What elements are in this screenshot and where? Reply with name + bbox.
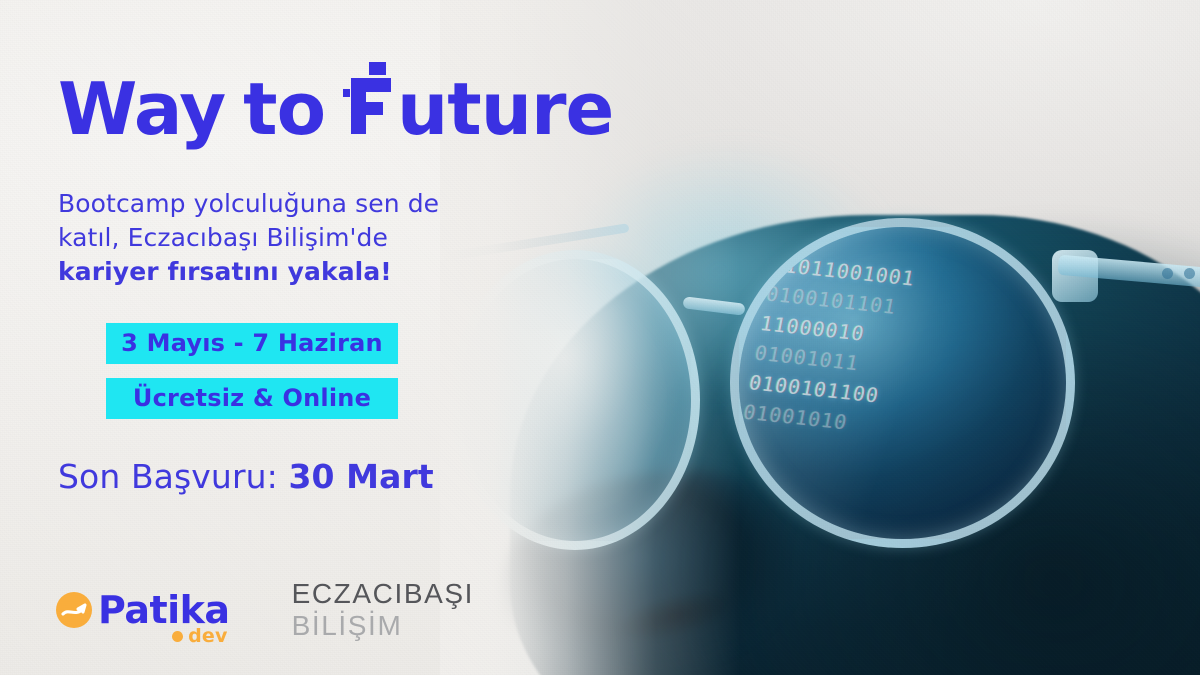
logo-row: Patika dev ECZACIBAŞI BİLİŞİM	[56, 578, 474, 641]
binary-code-reflection: 01011001001 0100101101 11000010 01001011…	[741, 249, 1075, 461]
deadline-value: 30 Mart	[288, 457, 433, 496]
code-line: 01001010	[741, 397, 1075, 461]
bilisim-wordmark: BİLİŞİM	[292, 610, 474, 641]
eyeglasses-rivet	[1184, 268, 1195, 279]
headline-word-way: Way	[58, 73, 225, 145]
headline-word-future-rest: uture	[397, 73, 613, 145]
code-line: 01011001001	[769, 249, 1075, 313]
badge-price-mode: Ücretsiz & Online	[106, 378, 398, 419]
lede-paragraph: Bootcamp yolculuğuna sen de katıl, Eczac…	[58, 187, 528, 289]
code-line: 01001011	[752, 338, 1075, 402]
eyeglasses-bridge	[682, 296, 745, 315]
patika-logo[interactable]: Patika dev	[56, 591, 230, 629]
lede-line-3: kariyer fırsatını yakala!	[58, 255, 528, 289]
eyeglasses-right-lens: 01011001001 0100101101 11000010 01001011…	[730, 218, 1075, 548]
eczacibasi-wordmark: ECZACIBAŞI	[292, 578, 474, 609]
badge-group: 3 Mayıs - 7 Haziran Ücretsiz & Online	[106, 323, 620, 419]
code-line: 0100101101	[764, 279, 1075, 343]
content-column: Waytouture Bootcamp yolculuğuna sen de k…	[0, 0, 620, 675]
deadline-label: Son Başvuru:	[58, 457, 288, 496]
patika-dev-suffix: dev	[172, 627, 227, 646]
code-line: 0100101100	[746, 367, 1075, 431]
lede-line-2: katıl, Eczacıbaşı Bilişim'de	[58, 221, 528, 255]
code-line: 11000010	[758, 308, 1075, 372]
badge-dates: 3 Mayıs - 7 Haziran	[106, 323, 398, 364]
patika-dev-label: dev	[188, 627, 227, 646]
promo-banner: 01011001001 0100101101 11000010 01001011…	[0, 0, 1200, 675]
headline-pixel-f-icon	[343, 62, 397, 134]
headline: Waytouture	[58, 62, 620, 145]
eczacibasi-bilisim-logo[interactable]: ECZACIBAŞI BİLİŞİM	[292, 578, 474, 641]
eyeglasses-rivet	[1162, 268, 1173, 279]
lede-line-1: Bootcamp yolculuğuna sen de	[58, 187, 528, 221]
patika-dot-icon	[172, 631, 183, 642]
headline-word-to: to	[243, 73, 325, 145]
patika-wordmark: Patika	[98, 591, 230, 629]
deadline-line: Son Başvuru: 30 Mart	[58, 457, 620, 496]
patika-path-circle-icon	[56, 592, 92, 628]
